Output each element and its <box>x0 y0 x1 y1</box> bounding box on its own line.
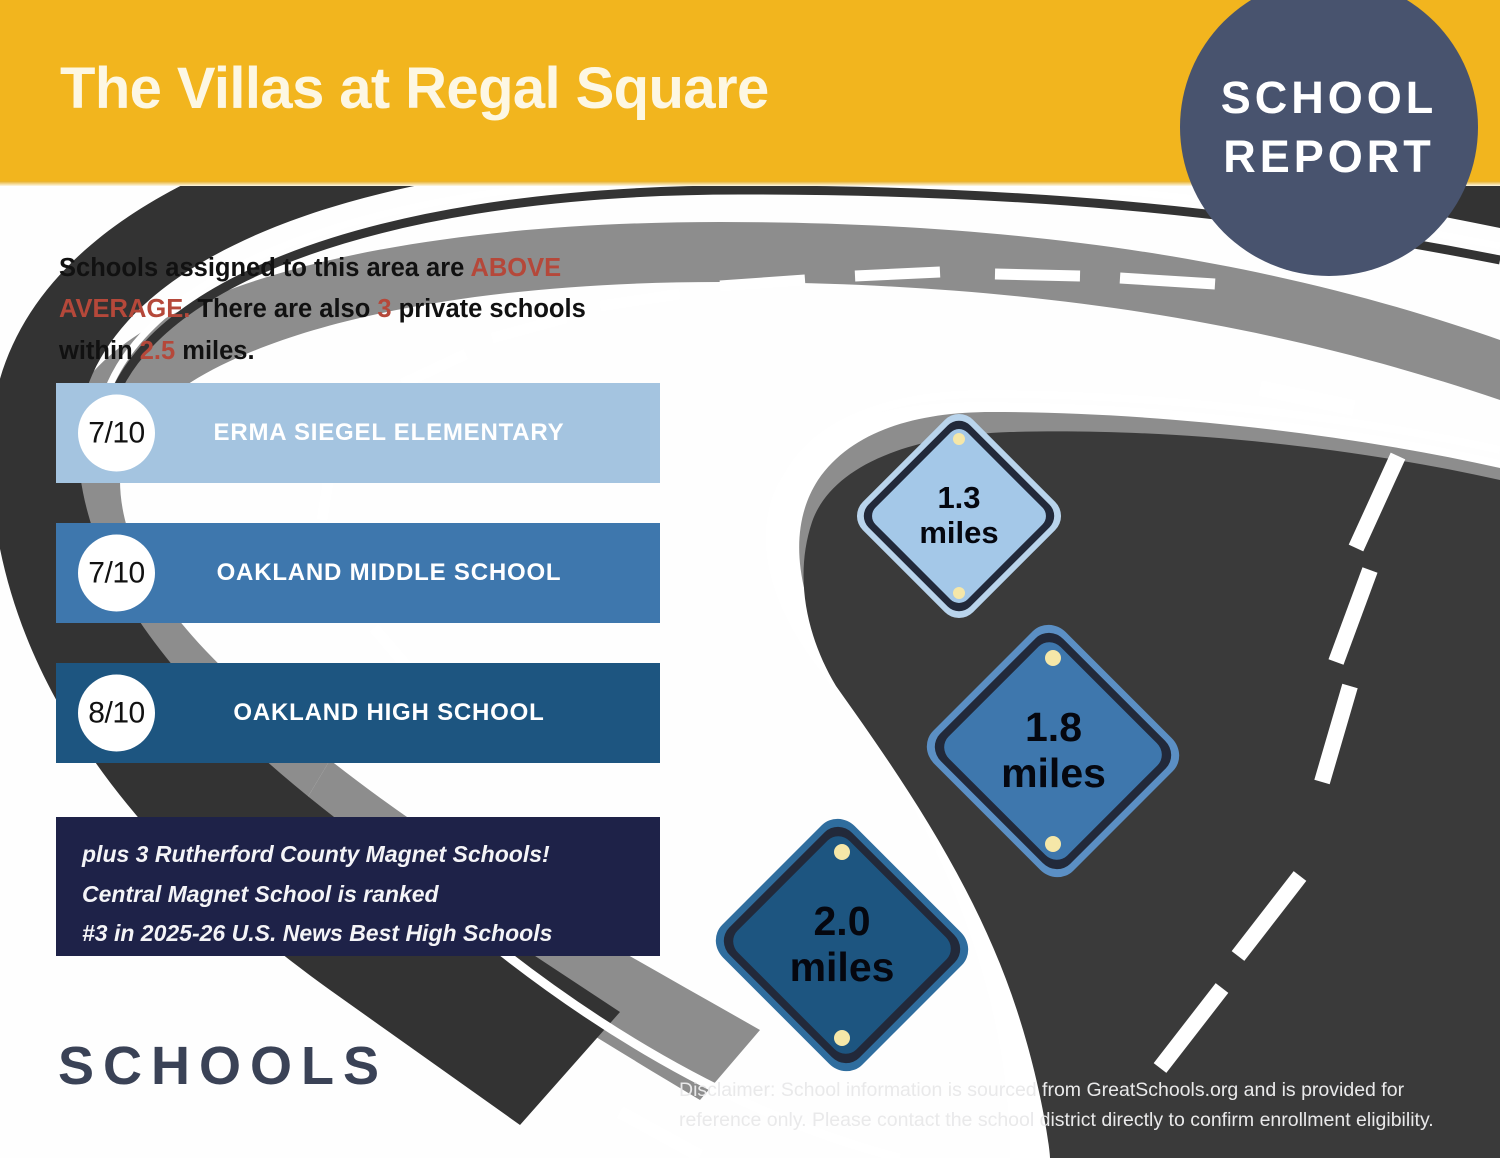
magnet-line-1: plus 3 Rutherford County Magnet Schools! <box>82 835 636 875</box>
sign-rivet-top-elementary <box>953 433 965 445</box>
page-title: The Villas at Regal Square <box>60 55 769 122</box>
intro-part-2: There are also <box>190 295 377 323</box>
sign-face-high <box>727 830 957 1060</box>
score-badge-elementary: 7/10 <box>78 395 155 472</box>
magnet-schools-note: plus 3 Rutherford County Magnet Schools!… <box>56 817 660 956</box>
school-row-middle[interactable]: 7/10 OAKLAND MIDDLE SCHOOL <box>56 523 660 623</box>
sign-rivet-bottom-elementary <box>953 587 965 599</box>
badge-line-report: REPORT <box>1223 134 1435 179</box>
sign-rivet-top-high <box>834 844 850 860</box>
distance-sign-elementary: 1.3 miles <box>843 400 1075 632</box>
infographic-canvas: The Villas at Regal Square SCHOOL REPORT… <box>0 0 1500 1158</box>
intro-highlight-private-count: 3 <box>377 295 391 323</box>
sign-rivet-bottom-middle <box>1045 836 1061 852</box>
intro-part-4: miles. <box>175 337 254 365</box>
badge-line-school: SCHOOL <box>1221 75 1438 120</box>
magnet-line-3: #3 in 2025-26 U.S. News Best High School… <box>82 914 636 954</box>
sign-rivet-bottom-high <box>834 1030 850 1046</box>
score-badge-middle: 7/10 <box>78 535 155 612</box>
magnet-line-2: Central Magnet School is ranked <box>82 875 636 915</box>
sign-face-elementary <box>867 424 1051 608</box>
intro-part-1: Schools assigned to this area are <box>59 254 470 282</box>
intro-highlight-radius: 2.5 <box>140 337 175 365</box>
school-list: 7/10 ERMA SIEGEL ELEMENTARY 7/10 OAKLAND… <box>56 383 660 763</box>
footer-logo: SCHOOLS <box>58 1035 388 1097</box>
score-badge-high: 8/10 <box>78 675 155 752</box>
sign-rivet-top-middle <box>1045 650 1061 666</box>
school-row-high[interactable]: 8/10 OAKLAND HIGH SCHOOL <box>56 663 660 763</box>
disclaimer-text: Disclaimer: School information is source… <box>679 1076 1469 1135</box>
distance-sign-high: 2.0 miles <box>693 806 991 1084</box>
school-row-elementary[interactable]: 7/10 ERMA SIEGEL ELEMENTARY <box>56 383 660 483</box>
intro-paragraph: Schools assigned to this area are ABOVE … <box>59 248 599 372</box>
